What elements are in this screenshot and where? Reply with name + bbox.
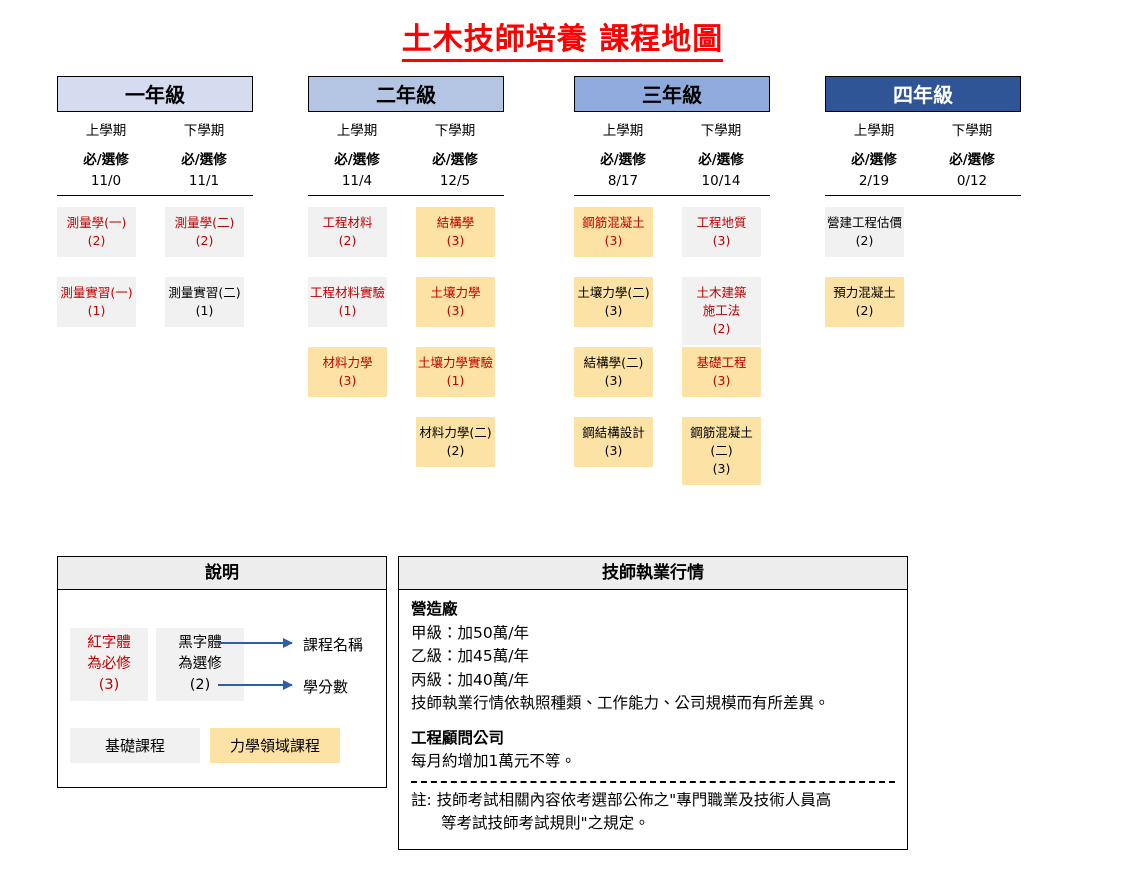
salary-note-separator xyxy=(411,781,895,783)
semester-name: 下學期 xyxy=(155,121,253,142)
course-credits: (2) xyxy=(59,232,134,250)
course-name: 結構學 xyxy=(418,214,493,232)
course-name: 鋼筋混凝土 xyxy=(576,214,651,232)
salary-body: 營造廠 甲級：加50萬/年乙級：加45萬/年丙級：加40萬/年技師執業行情依執照… xyxy=(399,590,907,839)
semester-counts: 12/5 xyxy=(406,171,504,192)
course-credits: (3) xyxy=(576,372,651,390)
semester-counts: 8/17 xyxy=(574,171,672,192)
year-column-4: 四年級上學期必/選修2/19下學期必/選修0/12營建工程估價(2)預力混凝土(… xyxy=(825,76,1021,487)
legend-panel: 說明 紅字體為必修(3) 黑字體為選修(2) 課程名稱 學分數 基礎課程 力學領… xyxy=(57,556,387,788)
course-credits: (2) xyxy=(167,232,242,250)
semester-summary-row: 上學期必/選修11/0下學期必/選修11/1 xyxy=(57,121,253,192)
course-credits: (1) xyxy=(418,372,493,390)
course-name: 工程材料實驗 xyxy=(310,284,385,302)
course-name: 工程地質 xyxy=(684,214,759,232)
semester-counts: 11/4 xyxy=(308,171,406,192)
semester-counts: 11/1 xyxy=(155,171,253,192)
course-box[interactable]: 土壤力學(二)(3) xyxy=(574,277,653,327)
course-credits: (3) xyxy=(576,442,651,460)
semester-cell-2: 下學期必/選修11/1 xyxy=(155,121,253,192)
semester-name: 上學期 xyxy=(308,121,406,142)
course-name: 測量實習(一) xyxy=(59,284,134,302)
semester-name: 上學期 xyxy=(825,121,923,142)
course-box[interactable]: 工程材料實驗(1) xyxy=(308,277,387,327)
semester-cell-2: 下學期必/選修0/12 xyxy=(923,121,1021,192)
year-header-1: 一年級 xyxy=(57,76,253,112)
arrow-to-course-name-icon xyxy=(218,642,292,644)
course-credits: (2) xyxy=(310,232,385,250)
course-name: 土木建築施工法 xyxy=(684,284,759,320)
course-name: 測量學(二) xyxy=(167,214,242,232)
salary-panel: 技師執業行情 營造廠 甲級：加50萬/年乙級：加45萬/年丙級：加40萬/年技師… xyxy=(398,556,908,850)
course-name: 預力混凝土 xyxy=(827,284,902,302)
semester-counts: 0/12 xyxy=(923,171,1021,192)
semester-counts: 11/0 xyxy=(57,171,155,192)
course-box[interactable]: 土木建築施工法(2) xyxy=(682,277,761,345)
legend-elective-chip: 黑字體為選修(2) xyxy=(156,628,244,701)
course-credits: (1) xyxy=(59,302,134,320)
course-box[interactable]: 材料力學(3) xyxy=(308,347,387,397)
year-header-3: 三年級 xyxy=(574,76,770,112)
course-credits: (2) xyxy=(827,302,902,320)
semester-req-label: 必/選修 xyxy=(672,150,770,171)
semester-cell-1: 上學期必/選修2/19 xyxy=(825,121,923,192)
course-box[interactable]: 測量學(二)(2) xyxy=(165,207,244,257)
course-credits: (3) xyxy=(418,232,493,250)
salary-group2-title: 工程顧問公司 xyxy=(411,727,895,751)
course-name: 材料力學(二) xyxy=(418,424,493,442)
course-credits: (3) xyxy=(684,460,759,478)
course-credits: (2) xyxy=(827,232,902,250)
semester-req-label: 必/選修 xyxy=(923,150,1021,171)
year-column-2: 二年級上學期必/選修11/4下學期必/選修12/5工程材料(2)工程材料實驗(1… xyxy=(308,76,504,487)
column-divider xyxy=(57,195,253,196)
semester-req-label: 必/選修 xyxy=(155,150,253,171)
semester-req-label: 必/選修 xyxy=(574,150,672,171)
course-box[interactable]: 土壤力學(3) xyxy=(416,277,495,327)
salary-line-2: 乙級：加45萬/年 xyxy=(411,645,895,669)
course-grid: 工程材料(2)工程材料實驗(1)材料力學(3)結構學(3)土壤力學(3)土壤力學… xyxy=(308,207,504,487)
page-title: 土木技師培養 課程地圖 xyxy=(0,14,1125,58)
semester-req-label: 必/選修 xyxy=(406,150,504,171)
course-credits: (2) xyxy=(684,320,759,338)
semester-name: 下學期 xyxy=(406,121,504,142)
course-grid: 鋼筋混凝土(3)土壤力學(二)(3)結構學(二)(3)鋼結構設計(3)工程地質(… xyxy=(574,207,770,487)
course-name: 基礎工程 xyxy=(684,354,759,372)
course-credits: (3) xyxy=(576,302,651,320)
column-divider xyxy=(308,195,504,196)
legend-label-course-name: 課程名稱 xyxy=(303,634,363,655)
semester-counts: 2/19 xyxy=(825,171,923,192)
course-name: 土壤力學(二) xyxy=(576,284,651,302)
course-name: 材料力學 xyxy=(310,354,385,372)
page-title-text: 土木技師培養 課程地圖 xyxy=(402,22,723,62)
course-name: 鋼結構設計 xyxy=(576,424,651,442)
semester-name: 下學期 xyxy=(923,121,1021,142)
course-credits: (1) xyxy=(167,302,242,320)
course-name: 營建工程估價 xyxy=(827,214,902,232)
semester-cell-2: 下學期必/選修12/5 xyxy=(406,121,504,192)
course-credits: (2) xyxy=(418,442,493,460)
arrow-to-credits-icon xyxy=(218,684,292,686)
semester-cell-2: 下學期必/選修10/14 xyxy=(672,121,770,192)
course-box[interactable]: 工程材料(2) xyxy=(308,207,387,257)
year-column-3: 三年級上學期必/選修8/17下學期必/選修10/14鋼筋混凝土(3)土壤力學(二… xyxy=(574,76,770,487)
salary-line-1: 甲級：加50萬/年 xyxy=(411,622,895,646)
salary-group1-lines: 甲級：加50萬/年乙級：加45萬/年丙級：加40萬/年技師執業行情依執照種類、工… xyxy=(411,622,895,716)
course-box[interactable]: 基礎工程(3) xyxy=(682,347,761,397)
column-divider xyxy=(825,195,1021,196)
year-header-4: 四年級 xyxy=(825,76,1021,112)
semester-summary-row: 上學期必/選修8/17下學期必/選修10/14 xyxy=(574,121,770,192)
salary-group1-title: 營造廠 xyxy=(411,598,895,622)
course-box[interactable]: 鋼筋混凝土(二)(3) xyxy=(682,417,761,485)
semester-cell-1: 上學期必/選修11/0 xyxy=(57,121,155,192)
salary-group2-lines: 每月約增加1萬元不等。 xyxy=(411,750,895,774)
semester-summary-row: 上學期必/選修11/4下學期必/選修12/5 xyxy=(308,121,504,192)
course-box[interactable]: 結構學(3) xyxy=(416,207,495,257)
semester-summary-row: 上學期必/選修2/19下學期必/選修0/12 xyxy=(825,121,1021,192)
course-box[interactable]: 工程地質(3) xyxy=(682,207,761,257)
legend-body: 紅字體為必修(3) 黑字體為選修(2) 課程名稱 學分數 基礎課程 力學領域課程 xyxy=(58,590,386,788)
semester-cell-1: 上學期必/選修11/4 xyxy=(308,121,406,192)
legend-required-chip: 紅字體為必修(3) xyxy=(70,628,148,701)
course-box[interactable]: 材料力學(二)(2) xyxy=(416,417,495,467)
salary-note-line-2: 等考試技師考試規則"之規定。 xyxy=(411,812,895,835)
course-grid: 測量學(一)(2)測量實習(一)(1)測量學(二)(2)測量實習(二)(1) xyxy=(57,207,253,487)
salary-note-line-1: 註: 技師考試相關內容依考選部公佈之"專門職業及技術人員高 xyxy=(411,789,895,812)
course-box[interactable]: 土壤力學實驗(1) xyxy=(416,347,495,397)
course-name: 鋼筋混凝土(二) xyxy=(684,424,759,460)
course-box[interactable]: 結構學(二)(3) xyxy=(574,347,653,397)
course-box[interactable]: 預力混凝土(2) xyxy=(825,277,904,327)
course-credits: (3) xyxy=(684,232,759,250)
semester-name: 上學期 xyxy=(57,121,155,142)
year-column-1: 一年級上學期必/選修11/0下學期必/選修11/1測量學(一)(2)測量實習(一… xyxy=(57,76,253,487)
course-name: 測量實習(二) xyxy=(167,284,242,302)
course-grid: 營建工程估價(2)預力混凝土(2) xyxy=(825,207,1021,487)
semester-cell-1: 上學期必/選修8/17 xyxy=(574,121,672,192)
course-box[interactable]: 測量實習(二)(1) xyxy=(165,277,244,327)
course-box[interactable]: 鋼結構設計(3) xyxy=(574,417,653,467)
semester-req-label: 必/選修 xyxy=(825,150,923,171)
course-credits: (3) xyxy=(310,372,385,390)
course-credits: (3) xyxy=(418,302,493,320)
salary-line-3: 丙級：加40萬/年 xyxy=(411,669,895,693)
course-credits: (3) xyxy=(684,372,759,390)
course-name: 土壤力學 xyxy=(418,284,493,302)
semester-req-label: 必/選修 xyxy=(308,150,406,171)
legend-swatch-mechanics: 力學領域課程 xyxy=(210,728,340,763)
column-divider xyxy=(574,195,770,196)
course-credits: (1) xyxy=(310,302,385,320)
course-box[interactable]: 鋼筋混凝土(3) xyxy=(574,207,653,257)
salary-line-4: 技師執業行情依執照種類、工作能力、公司規模而有所差異。 xyxy=(411,692,895,716)
course-credits: (3) xyxy=(576,232,651,250)
semester-req-label: 必/選修 xyxy=(57,150,155,171)
course-name: 工程材料 xyxy=(310,214,385,232)
year-header-2: 二年級 xyxy=(308,76,504,112)
salary-line-b-1: 每月約增加1萬元不等。 xyxy=(411,750,895,774)
course-name: 土壤力學實驗 xyxy=(418,354,493,372)
legend-label-credits: 學分數 xyxy=(303,676,348,697)
semester-counts: 10/14 xyxy=(672,171,770,192)
course-box[interactable]: 營建工程估價(2) xyxy=(825,207,904,257)
semester-name: 下學期 xyxy=(672,121,770,142)
legend-swatch-basic: 基礎課程 xyxy=(70,728,200,763)
salary-title: 技師執業行情 xyxy=(399,557,907,590)
course-name: 結構學(二) xyxy=(576,354,651,372)
course-box[interactable]: 測量學(一)(2) xyxy=(57,207,136,257)
legend-title: 說明 xyxy=(58,557,386,590)
course-box[interactable]: 測量實習(一)(1) xyxy=(57,277,136,327)
semester-name: 上學期 xyxy=(574,121,672,142)
course-name: 測量學(一) xyxy=(59,214,134,232)
